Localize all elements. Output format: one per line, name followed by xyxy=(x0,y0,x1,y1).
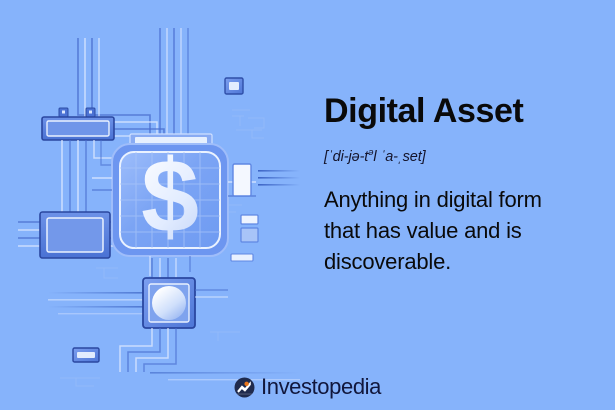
text-column: Digital Asset [ˈdi-jə-təl ˈa-ˌset] Anyth… xyxy=(324,94,604,277)
chip-small-top-right xyxy=(225,78,243,94)
term-pronunciation: [ˈdi-jə-təl ˈa-ˌset] xyxy=(324,147,604,165)
definition-card: $ xyxy=(0,0,615,410)
term-definition: Anything in digital form that has value … xyxy=(324,184,554,278)
pronunciation-part-one: ˈdi-jə-t xyxy=(328,149,368,165)
pronunciation-bracket-close: ] xyxy=(422,149,426,165)
chip-ball-circle xyxy=(152,286,186,320)
chip-tiny-bottom-left xyxy=(73,348,99,362)
brand-logo[interactable]: Investopedia xyxy=(0,376,615,398)
circuit-board-illustration: $ xyxy=(0,0,310,410)
dollar-sign-glyph: $ xyxy=(141,139,199,255)
investopedia-logo-icon xyxy=(234,377,255,398)
dollar-card: $ xyxy=(112,139,228,256)
pronunciation-part-two: l ˈa-ˌset xyxy=(373,149,421,165)
term-title: Digital Asset xyxy=(324,94,604,130)
illustration-panel: $ xyxy=(0,0,310,410)
brand-wordmark: Investopedia xyxy=(261,376,381,398)
